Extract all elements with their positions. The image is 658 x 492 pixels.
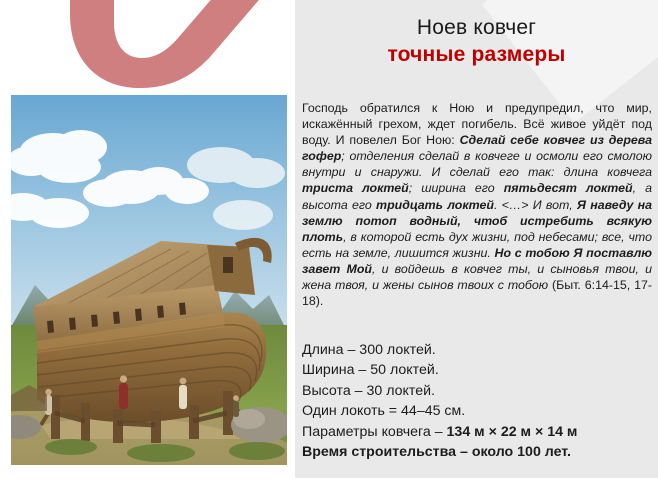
title-line-primary: Ноев ковчег [295,14,658,41]
rose-swoosh-decoration [0,0,320,96]
slide-canvas: Ноев ковчег точные размеры Господь обрат… [0,0,658,492]
scripture-run-3: триста локтей [302,181,409,195]
measurement-label-3: Один локоть = 44–45 см. [302,403,465,419]
measurement-row: Параметры ковчега – 134 м × 22 м × 14 м [302,422,654,442]
measurement-label-1: Ширина – 50 локтей. [302,362,439,378]
noahs-ark-illustration [11,95,287,465]
scripture-run-5: пятьдесят локтей [504,181,633,195]
scripture-run-2: ; отделения сделай в ковчеге и осмоли ег… [302,149,652,179]
measurement-row: Высота – 30 локтей. [302,381,654,401]
page-title: Ноев ковчег точные размеры [295,14,658,68]
measurement-label-2: Высота – 30 локтей. [302,383,435,399]
measurement-label-5: Время строительства – около 100 лет. [302,444,571,460]
measurement-row: Длина – 300 локтей. [302,340,654,360]
measurement-label-4: Параметры ковчега – [302,424,447,440]
measurement-row: Время строительства – около 100 лет. [302,442,654,462]
ark-scene-image [11,95,287,465]
measurements-list: Длина – 300 локтей.Ширина – 50 локтей.Вы… [302,340,654,462]
title-line-accent: точные размеры [295,41,658,68]
scripture-run-7: тридцать локтей [376,198,494,212]
swoosh-icon [0,0,320,96]
content-panel: Ноев ковчег точные размеры Господь обрат… [295,0,658,478]
measurement-row: Один локоть = 44–45 см. [302,401,654,421]
scripture-run-8: . <…> И вот, [494,198,577,212]
measurement-row: Ширина – 50 локтей. [302,360,654,380]
measurement-value-4: 134 м × 22 м × 14 м [447,424,578,440]
scripture-run-4: ; ширина его [409,181,504,195]
measurement-label-0: Длина – 300 локтей. [302,342,436,358]
scripture-paragraph: Господь обратился к Ною и предупредил, ч… [302,100,652,309]
